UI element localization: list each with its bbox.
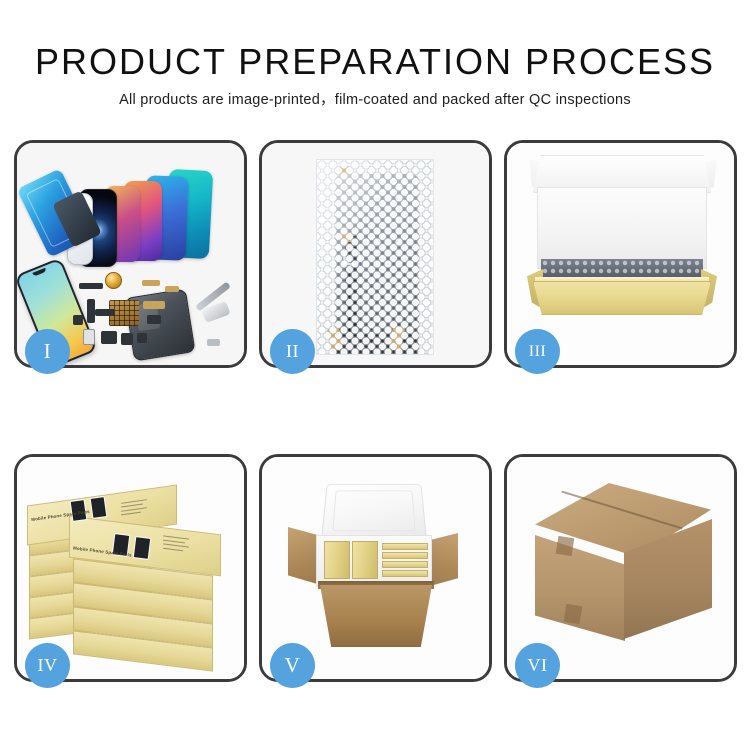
gold-box-row-icon [382, 561, 428, 568]
copper-coil-icon [105, 272, 122, 289]
box-product-photo [133, 536, 152, 560]
gold-box-row-icon [382, 552, 428, 559]
spare-part-icon [121, 333, 133, 345]
process-step-panel-6: VI [504, 454, 737, 682]
page-title: PRODUCT PREPARATION PROCESS [0, 42, 750, 82]
step-badge-6: VI [515, 643, 560, 688]
spare-part-icon [147, 315, 161, 324]
gold-pack-icon [352, 541, 378, 579]
spare-part-icon [95, 309, 115, 316]
carton-front-icon [320, 585, 432, 647]
process-step-panel-4: Mobile Phone Spare Parts Mobile Phone Sp… [14, 454, 247, 682]
spare-part-icon [207, 339, 220, 346]
process-step-panel-2: II [259, 140, 492, 368]
carton-tape-icon [564, 604, 583, 624]
box-lid-face-icon [537, 187, 707, 269]
spare-part-icon [142, 280, 160, 286]
box-product-photo [90, 496, 108, 519]
spare-part-icon [79, 283, 103, 289]
gold-box-row-icon [382, 570, 428, 577]
process-step-panel-1: I [14, 140, 247, 368]
styrofoam-lid-icon [321, 484, 427, 539]
header: PRODUCT PREPARATION PROCESS All products… [0, 42, 750, 109]
page-subtitle: All products are image-printed，film-coat… [0, 91, 750, 109]
spare-part-icon [101, 331, 117, 344]
plastic-sheen [317, 160, 433, 354]
spare-part-icon [137, 333, 147, 343]
gold-box-row-icon [382, 543, 428, 550]
spare-part-icon [165, 286, 179, 292]
gold-pack-icon [324, 541, 350, 579]
process-step-panel-3: III [504, 140, 737, 368]
spare-part-icon [83, 329, 95, 345]
bubble-wrap-bag-icon [316, 159, 434, 355]
process-step-panel-5: V [259, 454, 492, 682]
spare-part-icon [143, 301, 165, 309]
step-badge-3: III [515, 329, 560, 374]
carton-left-face [535, 535, 625, 641]
step-badge-2: II [270, 329, 315, 374]
carton-tape-icon [556, 536, 575, 556]
spare-part-icon [73, 315, 83, 325]
spare-part-icon [87, 299, 95, 323]
process-step-grid: I [14, 140, 736, 682]
product-preparation-infographic: PRODUCT PREPARATION PROCESS All products… [0, 0, 750, 750]
step-badge-4: IV [25, 643, 70, 688]
kraft-box-front-icon [533, 281, 711, 315]
step-badge-5: V [270, 643, 315, 688]
step-badge-1: I [25, 329, 70, 374]
